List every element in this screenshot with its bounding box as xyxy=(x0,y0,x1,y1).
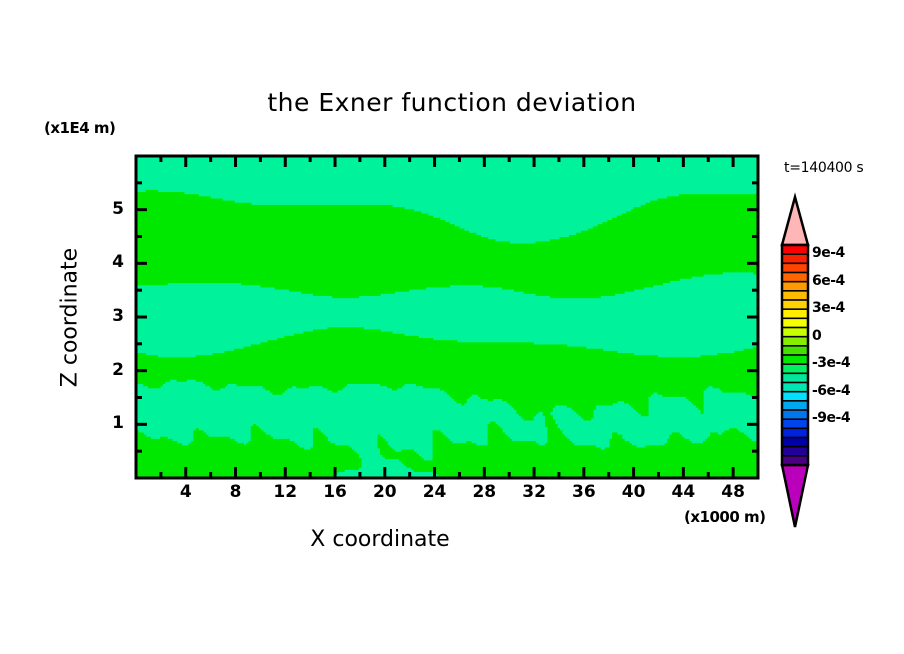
contour-band xyxy=(313,428,318,431)
colorbar-tick-label: 9e-4 xyxy=(812,245,845,261)
colorbar-band xyxy=(782,355,808,364)
colorbar-band xyxy=(782,245,808,254)
x-tick-label: 16 xyxy=(313,482,357,502)
contour-band xyxy=(402,450,415,453)
contour-band xyxy=(612,432,617,435)
contour-band xyxy=(136,192,184,195)
contour-band xyxy=(672,432,680,435)
colorbar-tick-label: -3e-4 xyxy=(812,355,850,371)
colorbar-band xyxy=(782,254,808,263)
colorbar-band xyxy=(782,263,808,272)
contour-band xyxy=(196,428,199,431)
contour-band xyxy=(729,428,737,431)
x-tick-label: 12 xyxy=(263,482,307,502)
contour-band xyxy=(327,327,363,330)
y-tick-label: 1 xyxy=(104,413,124,433)
colorbar-band xyxy=(782,428,808,437)
x-tick-label: 36 xyxy=(562,482,606,502)
colorbar-band xyxy=(782,419,808,428)
y-tick-label: 3 xyxy=(104,306,124,326)
contour-band xyxy=(466,441,471,444)
x-tick-label: 24 xyxy=(413,482,457,502)
colorbar-tick-label: 0 xyxy=(812,328,821,344)
colorbar-band xyxy=(782,300,808,309)
contour-band xyxy=(433,430,441,433)
colorbar-under-arrow xyxy=(782,465,808,527)
x-tick-label: 28 xyxy=(462,482,506,502)
x-tick-label: 40 xyxy=(612,482,656,502)
contour-band xyxy=(136,353,146,356)
colorbar-band xyxy=(782,364,808,373)
colorbar-band xyxy=(782,273,808,282)
colorbar-band xyxy=(782,373,808,382)
colorbar-tick-label: 6e-4 xyxy=(812,273,845,289)
x-tick-label: 44 xyxy=(661,482,705,502)
colorbar-band xyxy=(782,401,808,410)
colorbar-band xyxy=(782,447,808,456)
contour-band xyxy=(253,424,256,427)
contour-band xyxy=(378,435,381,438)
colorbar-band xyxy=(782,328,808,337)
contour-band xyxy=(160,437,168,440)
contour-band xyxy=(490,422,495,425)
x-tick-label: 4 xyxy=(164,482,208,502)
colorbar-band xyxy=(782,346,808,355)
contour-band xyxy=(679,194,759,197)
contour-plot-figure: the Exner function deviation (x1E4 m) (x… xyxy=(0,0,904,654)
colorbar-band xyxy=(782,309,808,318)
colorbar-band xyxy=(782,291,808,300)
contour-band xyxy=(146,190,159,193)
y-tick-label: 5 xyxy=(104,199,124,219)
x-tick-label: 32 xyxy=(512,482,556,502)
colorbar-band xyxy=(782,318,808,327)
colorbar-tick-label: 3e-4 xyxy=(812,300,845,316)
colorbar-band xyxy=(782,383,808,392)
colorbar-tick-label: -6e-4 xyxy=(812,383,850,399)
colorbar-band xyxy=(782,410,808,419)
colorbar-over-arrow xyxy=(782,197,808,245)
y-tick-label: 2 xyxy=(104,360,124,380)
colorbar-band xyxy=(782,337,808,346)
colorbar-band xyxy=(782,438,808,447)
colorbar-band xyxy=(782,282,808,291)
colorbar-tick-label: -9e-4 xyxy=(812,410,850,426)
colorbar-band xyxy=(782,392,808,401)
x-tick-label: 20 xyxy=(363,482,407,502)
contour-band xyxy=(710,432,718,435)
x-tick-label: 8 xyxy=(214,482,258,502)
y-tick-label: 4 xyxy=(104,252,124,272)
x-tick-label: 48 xyxy=(711,482,755,502)
